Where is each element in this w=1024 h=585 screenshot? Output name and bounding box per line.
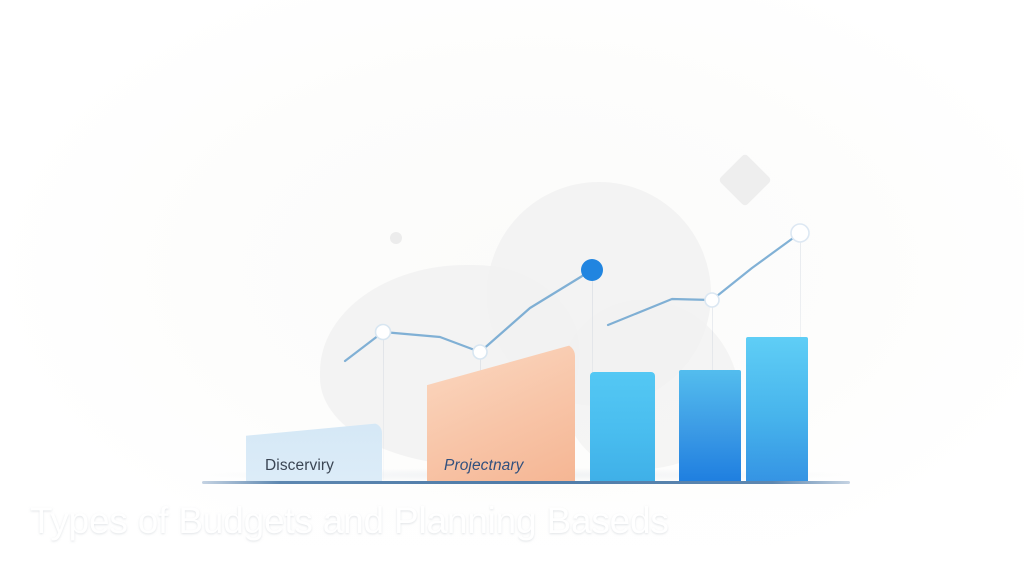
diamond-shape-icon <box>718 153 772 207</box>
gridline-1 <box>383 332 384 480</box>
page-title: Types of Budgets and Planning Baseds <box>30 500 669 542</box>
small-circle-dot-icon <box>390 232 402 244</box>
bar-4 <box>679 370 741 481</box>
chart-baseline <box>202 481 850 484</box>
bar-label-projectnary: Projectnary <box>444 457 524 475</box>
bar-label-discerviry: Discerviry <box>265 457 334 475</box>
illustration-canvas: Discerviry Projectnary Types of Budgets … <box>0 0 1024 585</box>
bar-5 <box>746 337 808 481</box>
bar-3 <box>590 372 655 481</box>
